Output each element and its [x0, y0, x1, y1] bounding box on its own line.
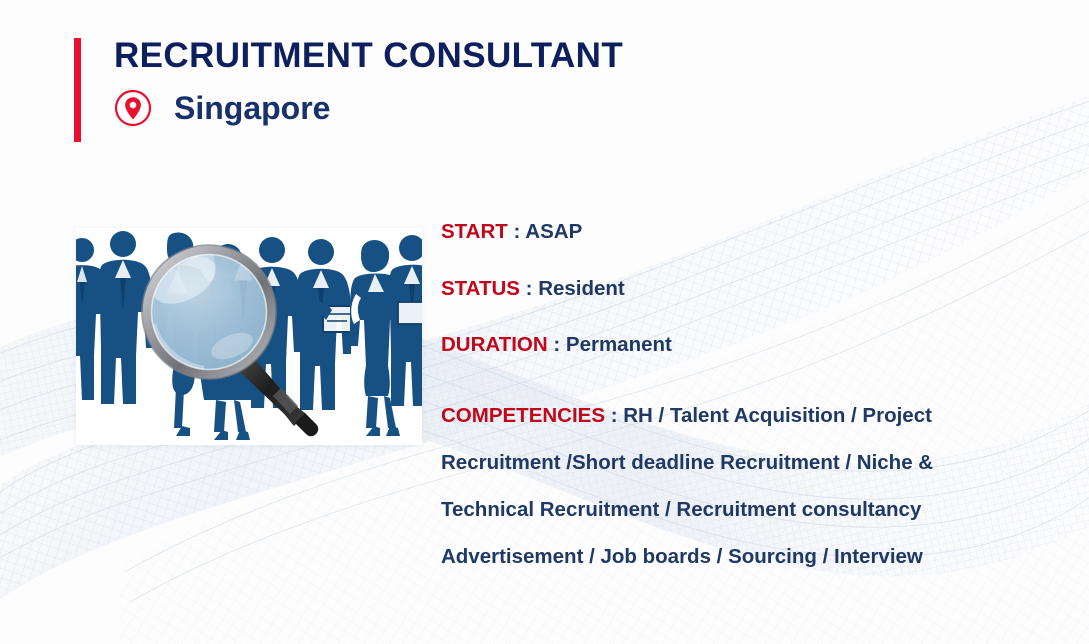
- detail-value-status: Resident: [538, 277, 625, 300]
- page-title: RECRUITMENT CONSULTANT: [114, 38, 623, 73]
- detail-row-start: START : ASAP: [441, 222, 1041, 243]
- illustration-image: [76, 228, 422, 445]
- detail-separator-competencies: :: [605, 404, 623, 427]
- detail-separator-start: :: [508, 220, 525, 243]
- detail-value-duration: Permanent: [566, 333, 672, 356]
- detail-value-competencies: RH / Talent Acquisition / Project Recrui…: [441, 404, 933, 568]
- header-text-group: RECRUITMENT CONSULTANT Singapore: [114, 38, 623, 142]
- detail-separator-duration: :: [548, 333, 566, 356]
- detail-value-start: ASAP: [525, 220, 582, 243]
- detail-label-start: START: [441, 220, 508, 243]
- detail-row-duration: DURATION : Permanent: [441, 335, 1041, 356]
- map-pin-icon: [114, 89, 152, 127]
- job-posting-banner: RECRUITMENT CONSULTANT Singapore: [0, 0, 1089, 644]
- detail-row-competencies: COMPETENCIES : RH / Talent Acquisition /…: [441, 392, 1031, 580]
- detail-label-status: STATUS: [441, 277, 520, 300]
- red-accent-bar: [74, 38, 81, 142]
- detail-label-competencies: COMPETENCIES: [441, 404, 605, 427]
- detail-separator-status: :: [520, 277, 538, 300]
- business-people-magnifier-illustration: [76, 228, 422, 445]
- detail-label-duration: DURATION: [441, 333, 548, 356]
- banner-header: RECRUITMENT CONSULTANT Singapore: [74, 38, 623, 142]
- location-label: Singapore: [174, 92, 330, 124]
- detail-row-status: STATUS : Resident: [441, 279, 1041, 300]
- job-details-list: START : ASAP STATUS : Resident DURATION …: [441, 222, 1041, 580]
- location-row: Singapore: [114, 89, 623, 127]
